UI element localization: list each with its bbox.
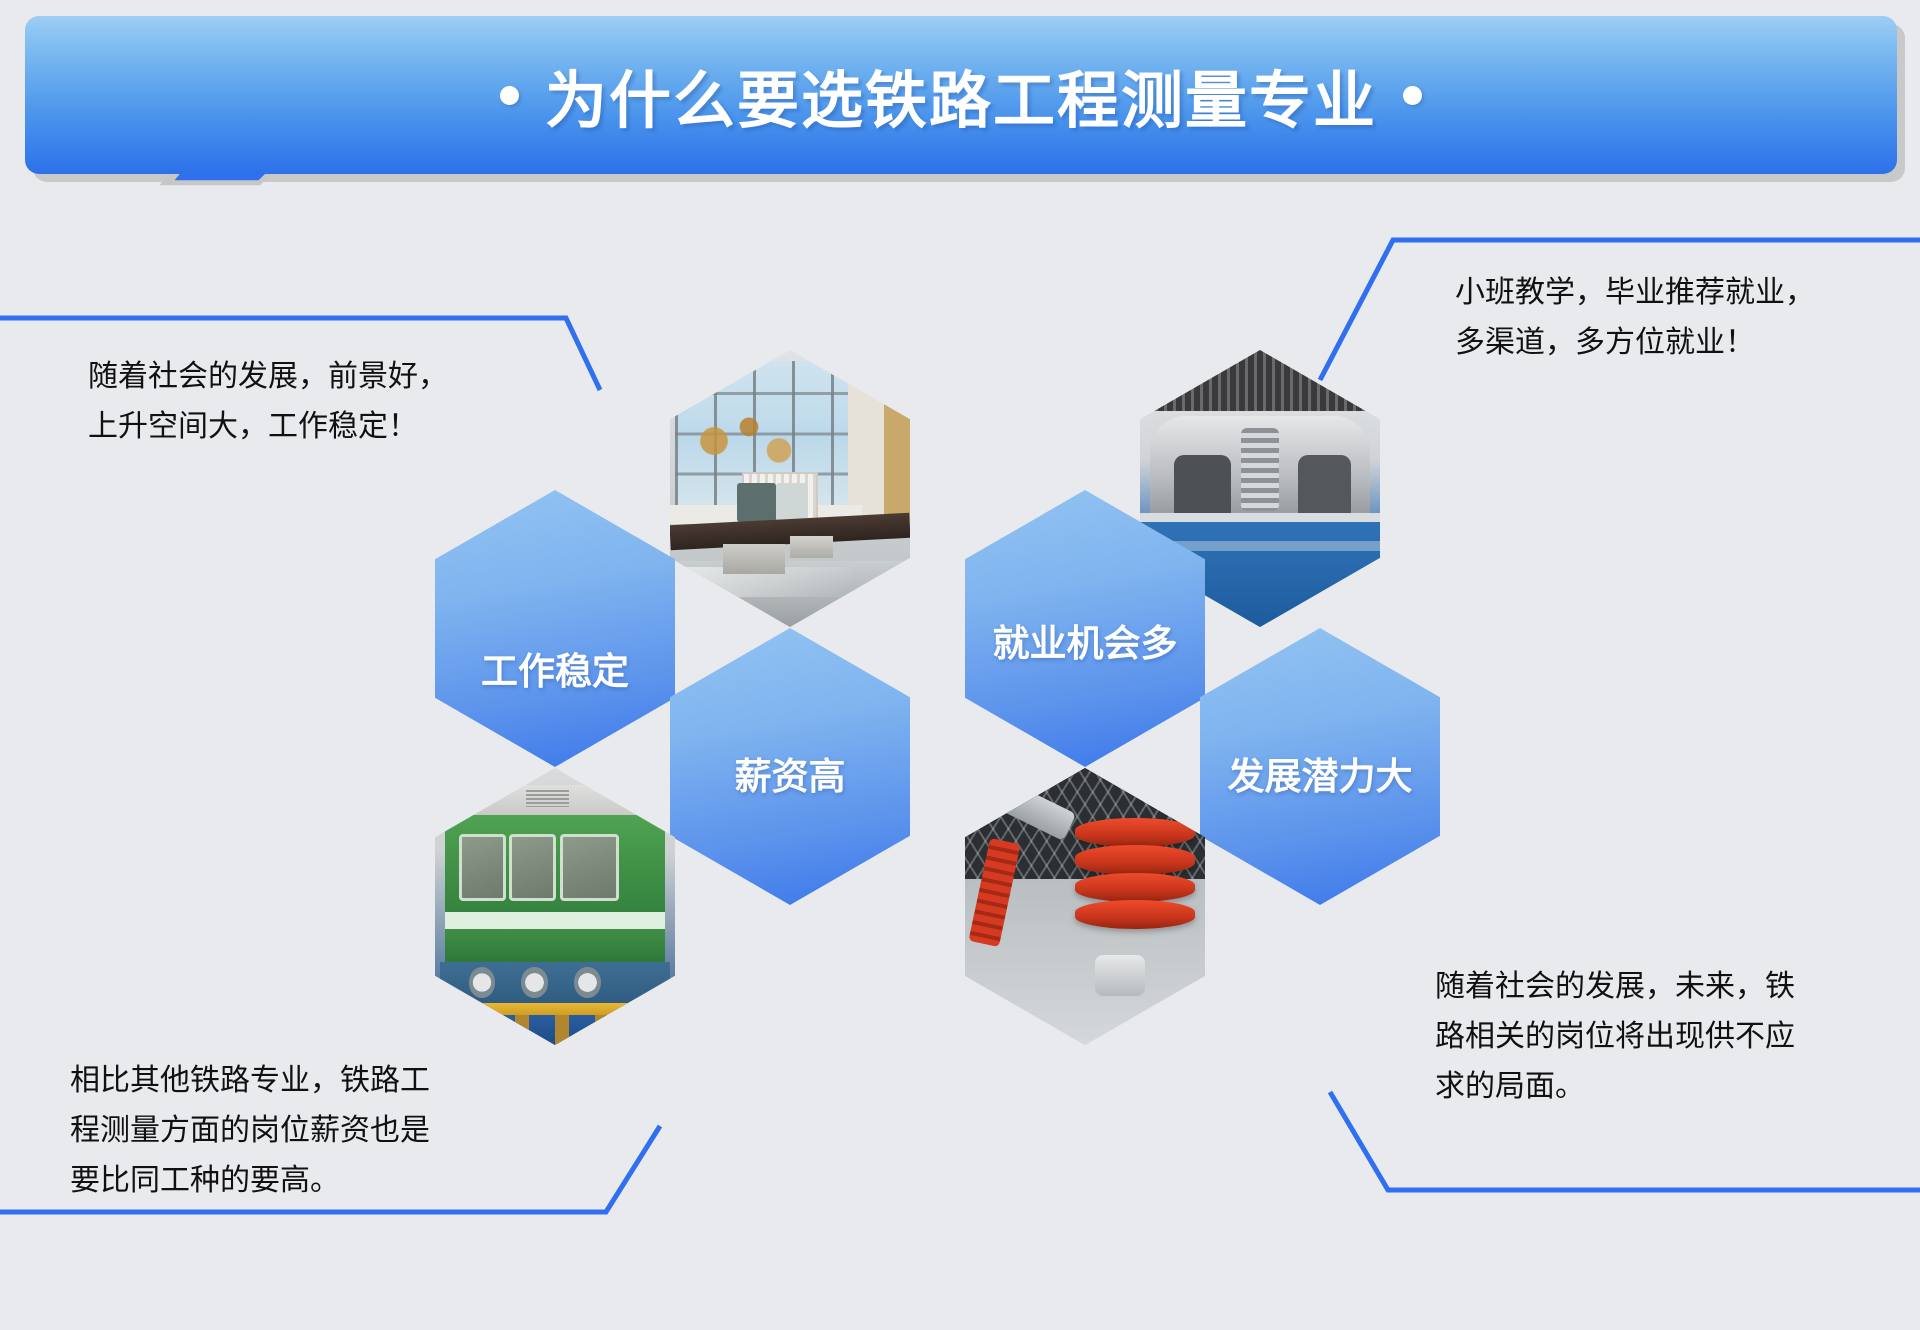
poster-canvas: 为什么要选铁路工程测量专业 随着社会的发展，前景好， 上升空间大，工作稳定！ 小… xyxy=(0,0,1920,1330)
callout-bottom-left-text: 相比其他铁路专业，铁路工 程测量方面的岗位薪资也是 要比同工种的要高。 xyxy=(70,1056,570,1206)
hex-photo-train xyxy=(435,768,675,1045)
callout-bottom-right-text: 随着社会的发展，未来，铁 路相关的岗位将出现供不应 求的局面。 xyxy=(1435,962,1920,1112)
lab-measurement-room-photo xyxy=(670,350,910,627)
callout-top-left-text: 随着社会的发展，前景好， 上升空间大，工作稳定！ xyxy=(88,352,558,452)
hex-photo-lab xyxy=(670,350,910,627)
callout-bottom-left: 相比其他铁路专业，铁路工 程测量方面的岗位薪资也是 要比同工种的要高。 xyxy=(0,1040,660,1300)
page-title-banner: 为什么要选铁路工程测量专业 xyxy=(25,16,1897,174)
callout-bottom-right: 随着社会的发展，未来，铁 路相关的岗位将出现供不应 求的局面。 xyxy=(1330,900,1920,1230)
page-title: 为什么要选铁路工程测量专业 xyxy=(500,50,1422,140)
callout-top-right-text: 小班教学，毕业推荐就业， 多渠道，多方位就业！ xyxy=(1455,268,1920,368)
bullet-dot-right-icon xyxy=(1403,86,1422,105)
red-insulator-photo xyxy=(965,768,1205,1045)
green-locomotive-photo xyxy=(435,768,675,1045)
callout-top-right: 小班教学，毕业推荐就业， 多渠道，多方位就业！ xyxy=(1290,180,1920,460)
hex-photo-insulator xyxy=(965,768,1205,1045)
hex-job-opportunities-label: 就业机会多 xyxy=(993,613,1178,767)
hex-salary-high[interactable]: 薪资高 xyxy=(670,628,910,905)
hex-salary-high-label: 薪资高 xyxy=(735,746,846,905)
hex-growth-potential[interactable]: 发展潜力大 xyxy=(1200,628,1440,905)
page-title-text: 为什么要选铁路工程测量专业 xyxy=(545,50,1377,140)
hex-growth-potential-label: 发展潜力大 xyxy=(1228,746,1413,905)
hex-work-stable-label: 工作稳定 xyxy=(481,641,629,767)
bullet-dot-left-icon xyxy=(500,86,519,105)
